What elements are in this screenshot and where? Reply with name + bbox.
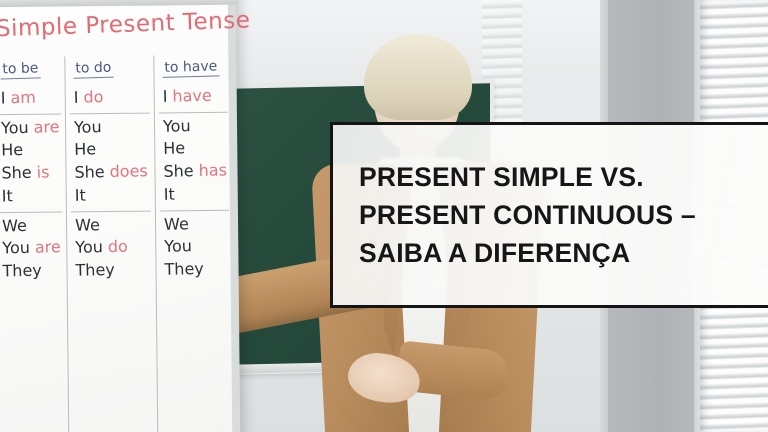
auxiliary: have — [172, 86, 212, 106]
conjugation-line: Ihave — [162, 84, 226, 108]
conjugation-group: You He Shehas It — [159, 112, 229, 211]
conjugation-group: Ido — [70, 84, 150, 115]
subject: She — [75, 162, 106, 182]
subject: It — [2, 186, 13, 205]
subject: We — [164, 214, 189, 234]
conjugation-line: Iam — [0, 86, 59, 110]
screenshot-scene: Simple Present Tense to be Iam Youare — [0, 0, 768, 432]
conjugation-line: You — [164, 235, 228, 259]
whiteboard-surface: Simple Present Tense to be Iam Youare — [0, 3, 232, 432]
subject: She — [1, 163, 32, 183]
column-header: to be — [0, 60, 41, 79]
subject: You — [74, 117, 102, 137]
conjugation-group: We Youare They — [0, 212, 63, 287]
conjugation-group: We Youdo They — [71, 211, 151, 286]
conjugation-line: It — [2, 184, 61, 208]
auxiliary: are — [35, 237, 61, 257]
conjugation-line: It — [163, 182, 227, 206]
subject: It — [163, 184, 174, 203]
subject: He — [75, 140, 97, 159]
conjugation-line: He — [1, 139, 60, 163]
title-line-2: PRESENT CONTINUOUS – — [359, 196, 696, 234]
conjugation-line: He — [74, 138, 148, 162]
column-header: to have — [162, 58, 219, 78]
conjugation-line: You — [163, 114, 227, 138]
subject: I — [74, 88, 79, 107]
conjugation-line: Sheis — [1, 161, 60, 185]
conjugation-group: Ihave — [158, 83, 228, 113]
subject: We — [2, 216, 27, 236]
subject: It — [75, 185, 86, 204]
whiteboard-columns: to be Iam Youare He — [0, 55, 220, 432]
conjugation-group: We You They — [160, 210, 230, 285]
subject: I — [1, 88, 6, 107]
conjugation-line: They — [76, 258, 150, 282]
whiteboard: Simple Present Tense to be Iam Youare — [0, 0, 240, 432]
conjugation-line: Shedoes — [75, 160, 149, 184]
subject: You — [1, 118, 29, 138]
auxiliary: are — [33, 117, 59, 137]
conjugation-line: He — [163, 137, 227, 161]
conjugation-group: Youare He Sheis It — [0, 114, 62, 213]
conjugation-line: Ido — [74, 85, 148, 109]
auxiliary: has — [198, 161, 227, 181]
auxiliary: am — [10, 88, 36, 108]
conjugation-line: Youare — [2, 236, 61, 260]
conjugation-group: Iam — [0, 85, 61, 115]
subject: I — [162, 87, 167, 106]
auxiliary: do — [84, 87, 104, 106]
conjugation-line: They — [2, 259, 61, 283]
whiteboard-column-to-do: to do Ido You He She — [66, 56, 158, 432]
conjugation-line: Youare — [1, 116, 60, 140]
subject: You — [164, 237, 192, 257]
whiteboard-column-to-be: to be Iam Youare He — [0, 56, 70, 432]
auxiliary: does — [110, 161, 149, 181]
subject: He — [163, 139, 185, 158]
subject: They — [164, 259, 204, 279]
conjugation-line: We — [2, 214, 61, 238]
auxiliary: do — [108, 237, 128, 256]
teacher-hair — [364, 34, 472, 120]
auxiliary: is — [36, 163, 49, 182]
conjugation-line: Shehas — [163, 160, 227, 184]
subject: They — [76, 260, 116, 280]
column-header: to do — [74, 60, 114, 79]
whiteboard-heading: Simple Present Tense — [0, 7, 251, 42]
conjugation-line: We — [75, 213, 149, 237]
subject: You — [163, 116, 191, 136]
conjugation-line: You — [74, 115, 148, 139]
subject: You — [2, 238, 30, 258]
title-line-3: SAIBA A DIFERENÇA — [359, 234, 696, 272]
conjugation-line: They — [164, 257, 228, 281]
subject: She — [163, 161, 194, 181]
conjugation-line: Youdo — [76, 235, 150, 259]
subject: He — [1, 140, 23, 159]
whiteboard-column-to-have: to have Ihave You He — [154, 55, 235, 432]
conjugation-line: We — [164, 212, 228, 236]
subject: They — [2, 261, 42, 281]
conjugation-group: You He Shedoes It — [70, 113, 150, 212]
conjugation-line: It — [75, 183, 149, 207]
subject: We — [75, 215, 100, 235]
title-overlay-card: PRESENT SIMPLE VS. PRESENT CONTINUOUS – … — [330, 122, 768, 308]
subject: You — [76, 237, 104, 257]
title-line-1: PRESENT SIMPLE VS. — [359, 158, 696, 196]
page-title: PRESENT SIMPLE VS. PRESENT CONTINUOUS – … — [333, 158, 696, 272]
